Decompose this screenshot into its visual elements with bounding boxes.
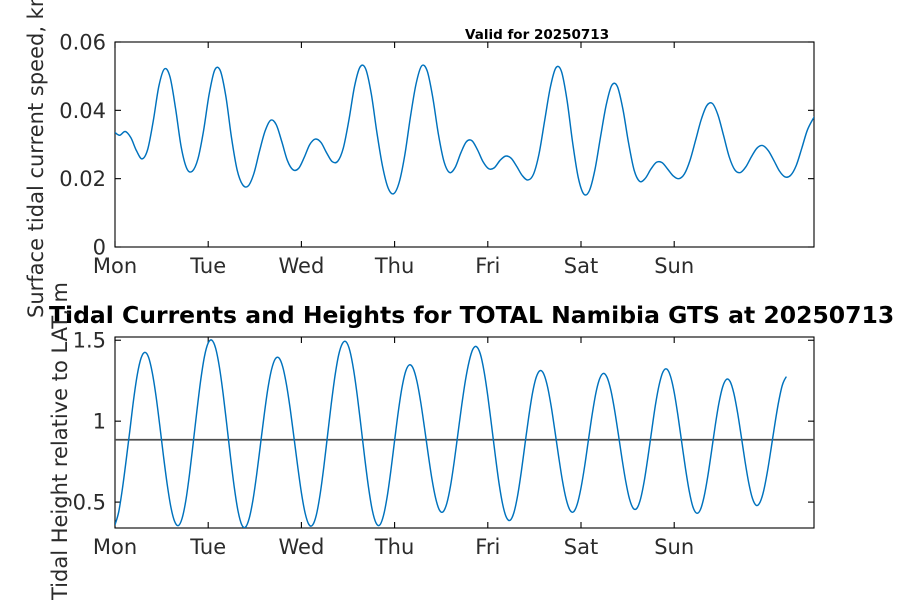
y-tick-label: 0.06 [59, 31, 106, 55]
x-tick-label: Thu [374, 254, 414, 278]
x-tick-label: Sun [654, 254, 694, 278]
x-tick-label: Tue [189, 254, 226, 278]
x-tick-label: Fri [475, 254, 500, 278]
x-tick-label: Sat [564, 535, 598, 559]
data-series-line [115, 65, 814, 195]
y-tick-label: 0.02 [59, 167, 106, 191]
chart-tidal-height-relative-to-lat: MonTueWedThuFriSatSun0.511.5 [0, 290, 900, 600]
chart-surface-tidal-current-speed: MonTueWedThuFriSatSun00.020.040.06 [0, 0, 900, 290]
x-tick-label: Wed [279, 535, 325, 559]
x-tick-label: Sun [654, 535, 694, 559]
x-tick-label: Thu [374, 535, 414, 559]
x-tick-label: Sat [564, 254, 598, 278]
x-tick-label: Tue [189, 535, 226, 559]
chart-bottom-svg: MonTueWedThuFriSatSun0.511.5 [0, 290, 900, 600]
y-tick-label: 0.04 [59, 99, 106, 123]
chart-bottom-ylabel: Tidal Height relative to LAT, m [48, 282, 72, 600]
chart-top-svg: MonTueWedThuFriSatSun00.020.040.06 [0, 0, 900, 290]
y-tick-label: 1 [93, 410, 106, 434]
chart-top-title: Valid for 20250713 [465, 27, 609, 43]
data-series-line [115, 340, 786, 528]
chart-top-ylabel: Surface tidal current speed, kn [24, 0, 48, 318]
figure-page: MonTueWedThuFriSatSun00.020.040.06 Valid… [0, 0, 900, 600]
y-tick-label: 0.5 [73, 491, 106, 515]
y-tick-label: 1.5 [73, 329, 106, 353]
x-tick-label: Mon [93, 535, 137, 559]
y-tick-label: 0 [93, 236, 106, 260]
x-tick-label: Fri [475, 535, 500, 559]
x-tick-label: Wed [279, 254, 325, 278]
